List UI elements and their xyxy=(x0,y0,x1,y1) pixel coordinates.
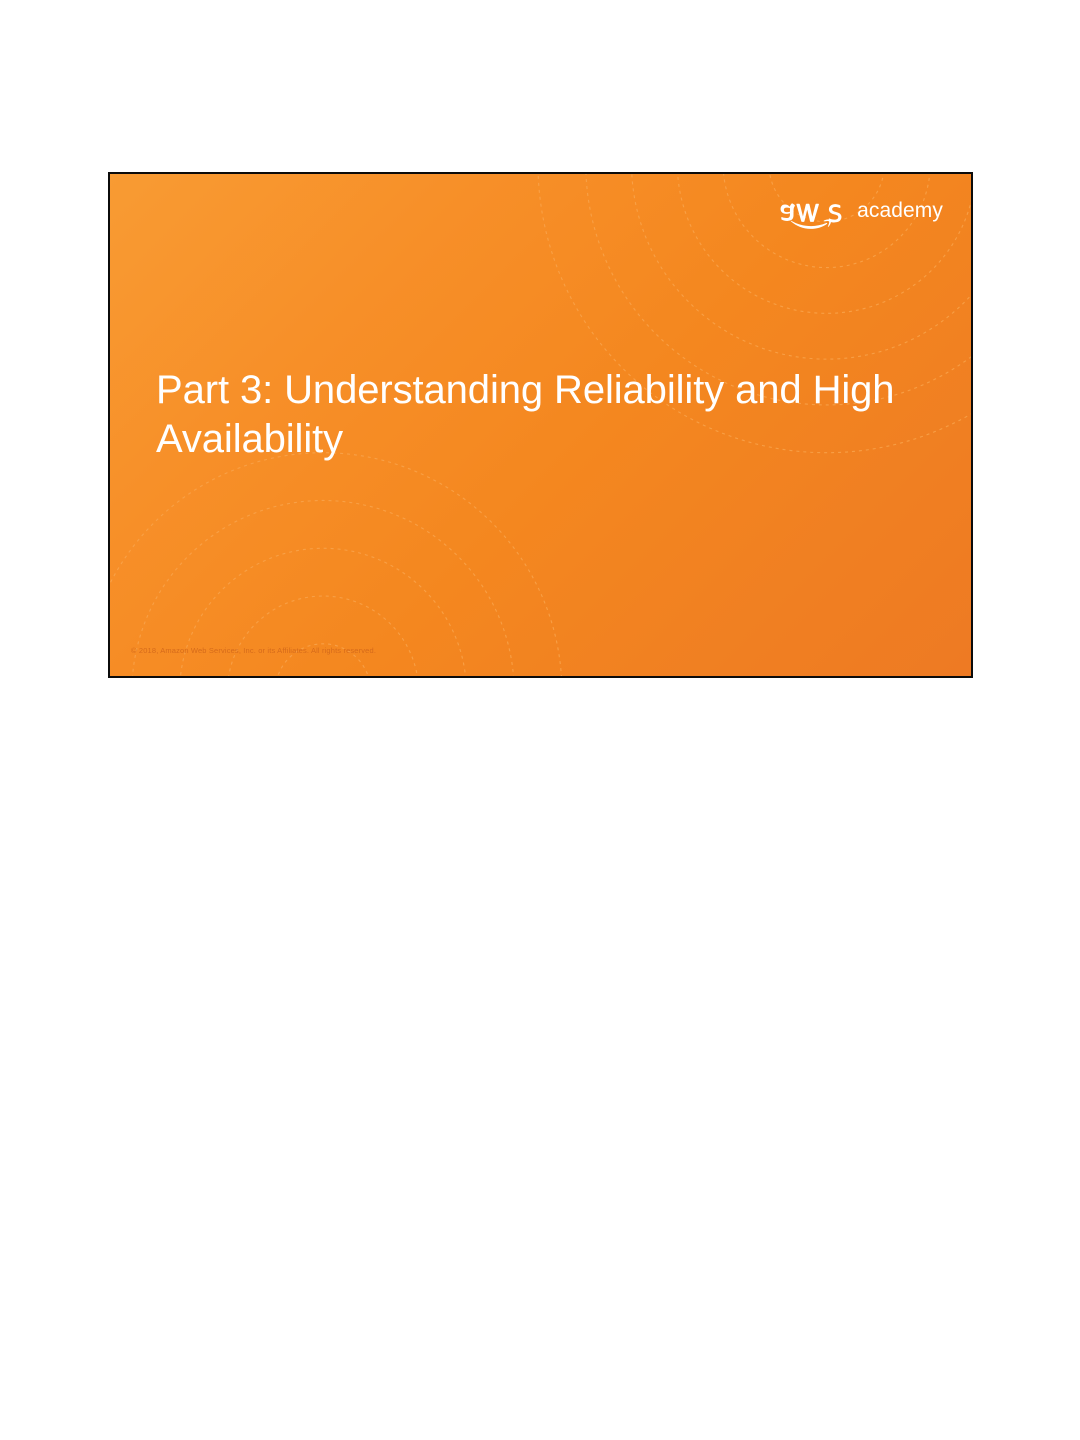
copyright-notice: © 2018, Amazon Web Services, Inc. or its… xyxy=(131,647,376,655)
presentation-slide: academy Part 3: Understanding Reliabilit… xyxy=(108,172,973,678)
aws-logo-icon xyxy=(778,196,848,236)
slide-title: Part 3: Understanding Reliability and Hi… xyxy=(156,366,916,464)
aws-academy-wordmark: academy xyxy=(857,200,943,221)
aws-academy-logo: academy xyxy=(778,196,943,236)
